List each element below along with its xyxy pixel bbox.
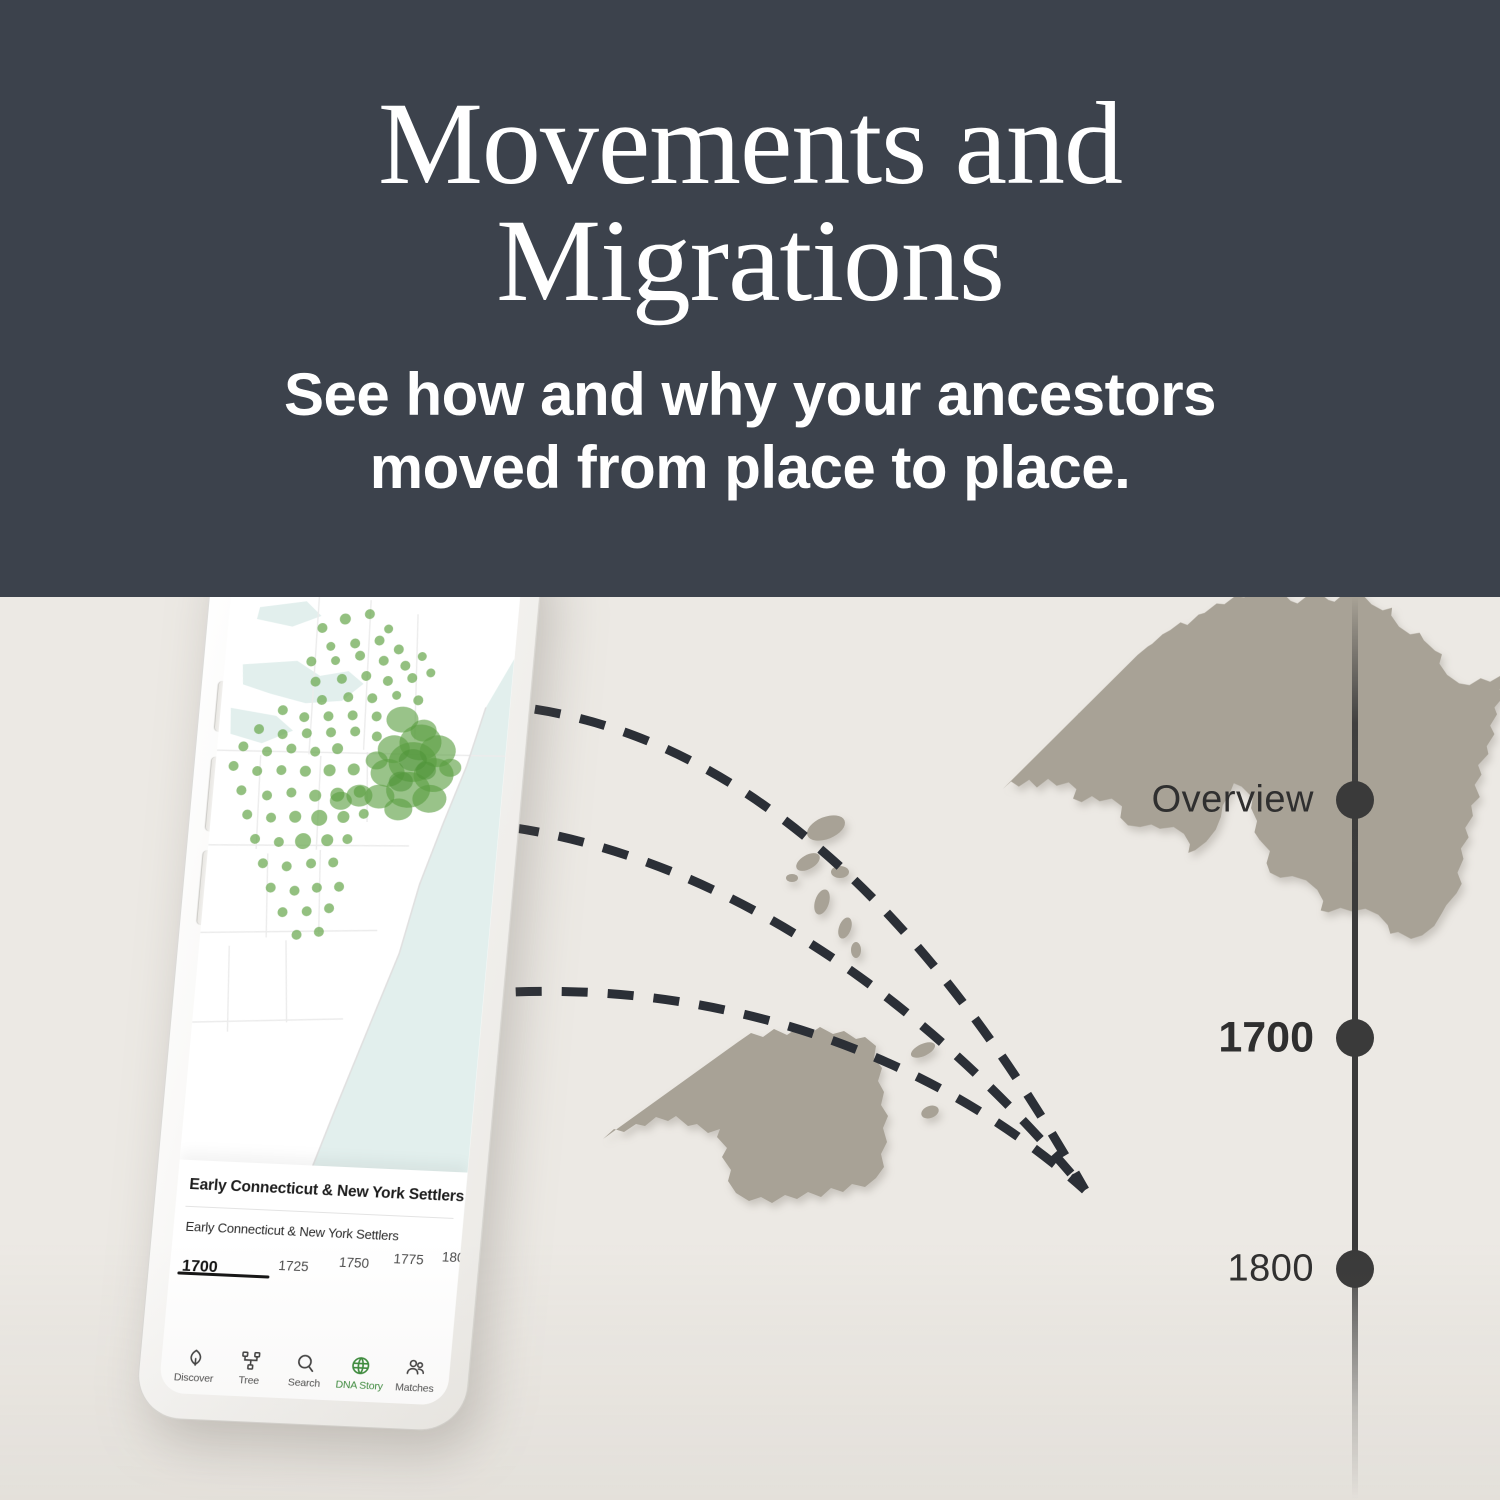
tree-icon <box>239 1349 263 1372</box>
time-tick-1775[interactable]: 1775 <box>393 1251 424 1267</box>
timeline-dot-1800[interactable] <box>1336 1250 1374 1288</box>
nav-item-discover[interactable]: Discover <box>165 1346 224 1385</box>
uk-ireland-map <box>640 750 1200 1350</box>
nav-label-dna-story: DNA Story <box>335 1379 383 1393</box>
nav-item-search[interactable]: Search <box>276 1351 335 1390</box>
people-icon <box>404 1357 428 1380</box>
leaf-icon <box>183 1347 207 1370</box>
illustration-stage: Early Connecticut & New York Settlers Ea… <box>0 597 1500 1500</box>
nav-label-search: Search <box>287 1376 320 1389</box>
nav-item-tree[interactable]: Tree <box>221 1349 280 1388</box>
phone-mockup: Early Connecticut & New York Settlers Ea… <box>108 597 581 1454</box>
timeline-dot-overview[interactable] <box>1336 781 1374 819</box>
globe-icon <box>349 1354 373 1377</box>
app-bottom-nav: Discover Tree <box>159 1346 450 1396</box>
app-map-usa[interactable] <box>176 597 524 1216</box>
timeline-dot-1700[interactable] <box>1336 1019 1374 1057</box>
timeline-label-overview: Overview <box>1152 779 1314 822</box>
page-title: Movements and Migrations <box>220 86 1280 320</box>
app-story-card: Early Connecticut & New York Settlers Ea… <box>158 1159 467 1405</box>
nav-label-discover: Discover <box>173 1371 213 1385</box>
time-tick-1725[interactable]: 1725 <box>278 1258 309 1274</box>
nav-label-tree: Tree <box>238 1374 259 1387</box>
nav-item-dna-story[interactable]: DNA Story <box>331 1354 390 1393</box>
timeline-label-1700: 1700 <box>1218 1014 1314 1063</box>
nav-item-matches[interactable]: Matches <box>386 1356 445 1395</box>
search-icon <box>294 1352 318 1375</box>
page-subtitle: See how and why your ancestors moved fro… <box>190 358 1310 504</box>
hero-header: Movements and Migrations See how and why… <box>0 0 1500 597</box>
timeline-label-1800: 1800 <box>1227 1248 1314 1291</box>
time-tick-1750[interactable]: 1750 <box>338 1255 369 1271</box>
nav-label-matches: Matches <box>395 1381 434 1395</box>
time-slider-active-indicator <box>177 1271 269 1278</box>
